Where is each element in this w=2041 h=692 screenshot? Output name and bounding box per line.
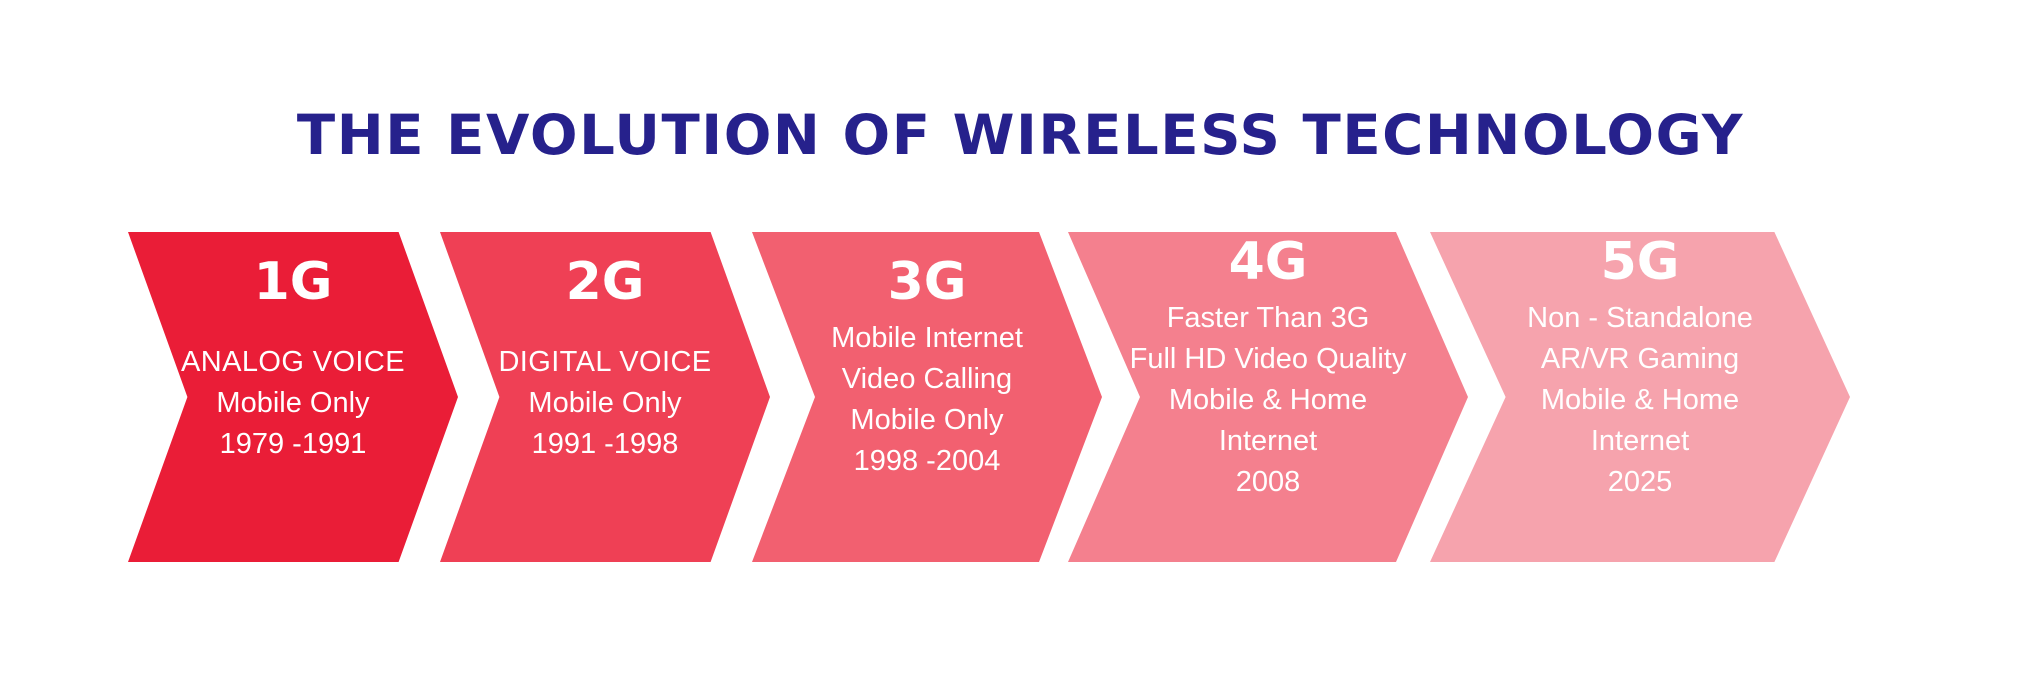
detail-line: 1979 -1991 [181, 424, 405, 465]
chevron-content-1g: 1GANALOG VOICEMobile Only1979 -1991 [128, 232, 458, 562]
detail-line: 1991 -1998 [498, 424, 711, 465]
detail-line: Mobile & Home [1130, 380, 1407, 421]
detail-list-4g: Faster Than 3GFull HD Video QualityMobil… [1130, 298, 1407, 503]
chevron-process-flow: 1GANALOG VOICEMobile Only1979 -19912GDIG… [0, 232, 2041, 562]
detail-line: 2008 [1130, 462, 1407, 503]
detail-line: Video Calling [831, 359, 1023, 400]
detail-line: Mobile & Home [1527, 380, 1753, 421]
detail-line: ANALOG VOICE [181, 342, 405, 383]
detail-list-2g: DIGITAL VOICEMobile Only1991 -1998 [498, 342, 711, 465]
chevron-stage-3g[interactable]: 3GMobile InternetVideo CallingMobile Onl… [752, 232, 1102, 562]
generation-label-3g: 3G [888, 256, 967, 308]
detail-line: 1998 -2004 [831, 441, 1023, 482]
chevron-content-3g: 3GMobile InternetVideo CallingMobile Onl… [752, 232, 1102, 562]
generation-label-1g: 1G [254, 256, 333, 308]
detail-line: Mobile Only [831, 400, 1023, 441]
detail-line: 2025 [1527, 462, 1753, 503]
chevron-stage-4g[interactable]: 4GFaster Than 3GFull HD Video QualityMob… [1068, 232, 1468, 562]
detail-line: Non - Standalone [1527, 298, 1753, 339]
detail-line: Mobile Internet [831, 318, 1023, 359]
chevron-content-2g: 2GDIGITAL VOICEMobile Only1991 -1998 [440, 232, 770, 562]
detail-line: DIGITAL VOICE [498, 342, 711, 383]
chevron-content-5g: 5GNon - StandaloneAR/VR GamingMobile & H… [1430, 232, 1850, 562]
page-title: THE EVOLUTION OF WIRELESS TECHNOLOGY [0, 108, 2041, 163]
chevron-content-4g: 4GFaster Than 3GFull HD Video QualityMob… [1068, 232, 1468, 562]
detail-line: AR/VR Gaming [1527, 339, 1753, 380]
detail-list-3g: Mobile InternetVideo CallingMobile Only1… [831, 318, 1023, 482]
detail-line: Mobile Only [181, 383, 405, 424]
chevron-stage-5g[interactable]: 5GNon - StandaloneAR/VR GamingMobile & H… [1430, 232, 1850, 562]
detail-line: Internet [1527, 421, 1753, 462]
detail-list-5g: Non - StandaloneAR/VR GamingMobile & Hom… [1527, 298, 1753, 503]
generation-label-2g: 2G [566, 256, 645, 308]
detail-line: Full HD Video Quality [1130, 339, 1407, 380]
detail-line: Mobile Only [498, 383, 711, 424]
detail-line: Internet [1130, 421, 1407, 462]
chevron-stage-1g[interactable]: 1GANALOG VOICEMobile Only1979 -1991 [128, 232, 458, 562]
infographic-canvas: THE EVOLUTION OF WIRELESS TECHNOLOGY 1GA… [0, 0, 2041, 692]
chevron-stage-2g[interactable]: 2GDIGITAL VOICEMobile Only1991 -1998 [440, 232, 770, 562]
detail-line: Faster Than 3G [1130, 298, 1407, 339]
generation-label-4g: 4G [1229, 236, 1308, 288]
detail-list-1g: ANALOG VOICEMobile Only1979 -1991 [181, 342, 405, 465]
generation-label-5g: 5G [1601, 236, 1680, 288]
